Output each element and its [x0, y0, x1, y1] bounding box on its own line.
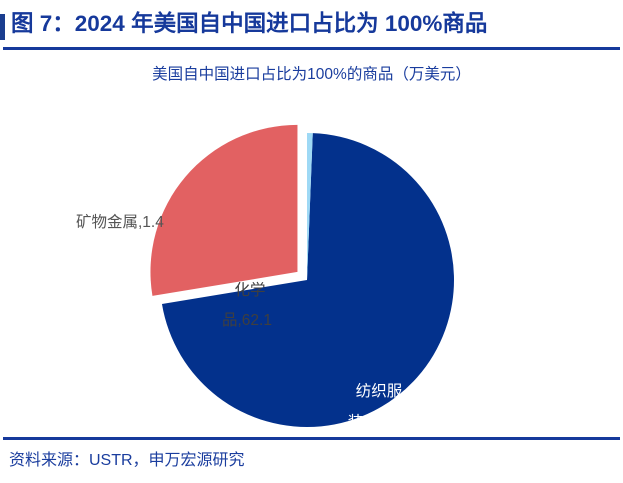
- pie-label-chemicals-line1: 化学: [234, 282, 265, 299]
- pie-label-textiles-line2: 装,161.4: [329, 407, 425, 438]
- title-accent-bar: [0, 14, 5, 40]
- source-note: 资料来源：USTR，申万宏源研究: [9, 449, 245, 473]
- pie-label-textiles: 纺织服 装,161.4: [333, 376, 425, 438]
- figure-title-block: 图 7：2024 年美国自中国进口占比为 100%商品: [0, 0, 623, 52]
- pie-label-textiles-line1: 纺织服: [356, 383, 403, 400]
- title-divider: [3, 47, 620, 50]
- chart-plot-area: 矿物金属,1.4 化学 品,62.1 纺织服 装,161.4: [0, 95, 623, 430]
- pie-chart: [0, 95, 623, 430]
- pie-label-chemicals: 化学 品,62.1: [205, 276, 295, 336]
- chart-subtitle: 美国自中国进口占比为100%的商品（万美元）: [0, 64, 623, 86]
- pie-label-minerals: 矿物金属,1.4: [76, 210, 164, 236]
- pie-label-chemicals-line2: 品,62.1: [199, 306, 295, 336]
- page-title: 图 7：2024 年美国自中国进口占比为 100%商品: [11, 9, 487, 39]
- pie-slice-chemicals[interactable]: [150, 125, 297, 296]
- footer-divider: [3, 437, 620, 440]
